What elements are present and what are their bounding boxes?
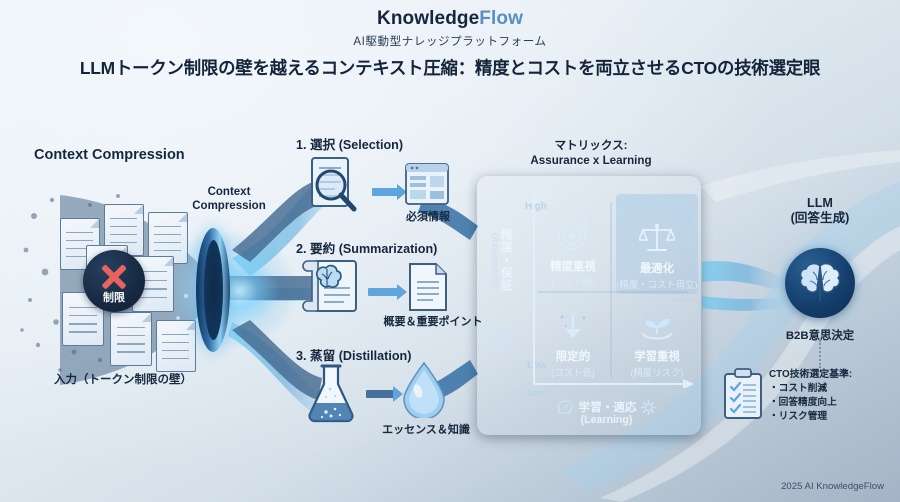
matrix-quadrant-sub: (コスト低) (551, 365, 595, 379)
step-3-title: 3. 蒸留 (Distillation) (296, 345, 411, 364)
matrix-quadrant-sub: (精度・コスト両立) (616, 277, 697, 291)
matrix-y-axis-label-en: (Assurance) (490, 233, 500, 286)
shield-check-icon (492, 328, 512, 350)
connector-dotted-line (819, 340, 821, 368)
scales-icon (639, 222, 675, 254)
matrix-quadrant-bottom-left[interactable]: 限定的 (コスト低) (534, 290, 612, 382)
matrix-quadrant-name: 学習重視 (634, 348, 680, 364)
matrix-quadrant-top-left[interactable]: 精度重視 (コスト高) (534, 196, 612, 292)
document-icon (110, 312, 152, 366)
step-2-arrow (368, 288, 398, 296)
step-2-output-label: 概要＆重要ポイント (378, 313, 488, 329)
matrix-quadrant-top-right[interactable]: 最適化 (精度・コスト両立) (616, 194, 698, 294)
brain-icon (797, 261, 843, 305)
infographic-canvas: KnowledgeFlow AI駆動型ナレッジプラットフォーム LLMトークン制… (0, 0, 900, 502)
document-icon (408, 262, 448, 312)
lens-label: Context Compression (186, 186, 272, 213)
criteria-block: CTO技術選定基準: ・コスト削減 ・回答精度向上 ・リスク管理 (769, 368, 852, 423)
matrix-x-axis-label-ja: 学習・適応 (579, 401, 637, 414)
criteria-item: ・コスト削減 (769, 382, 852, 396)
step-3-arrow (366, 390, 394, 398)
down-arrow-icon (557, 312, 589, 342)
matrix-panel: (Assurance) 精度・保証 High Low (477, 176, 701, 435)
step-3-output-label: エッセンス＆知識 (376, 421, 476, 437)
matrix-quadrant-sub: (コスト高) (551, 275, 595, 289)
brand-accent: Flow (479, 8, 523, 29)
flask-icon (304, 363, 358, 423)
compression-lens-core (204, 240, 223, 340)
matrix-x-axis-label: 学習・適応 (Learning) (524, 400, 689, 427)
brain-head-icon (557, 400, 574, 415)
step-1-output-label: 必須情報 (386, 208, 470, 224)
droplet-icon (400, 360, 448, 418)
magnifier-document-icon (302, 154, 364, 216)
llm-title: LLM (回答生成) (760, 196, 880, 226)
section-title-context-compression: Context Compression (34, 147, 185, 163)
step-1-title: 1. 選択 (Selection) (296, 134, 403, 153)
criteria-heading: CTO技術選定基準: (769, 368, 852, 382)
matrix-quadrant-bottom-right[interactable]: 学習重視 (精度リスク) (616, 290, 698, 382)
limit-badge: 制限 (83, 250, 145, 312)
clipboard-check-icon (722, 368, 764, 420)
matrix-x-axis-label-en: (Learning) (524, 415, 689, 427)
step-2-title: 2. 要約 (Summarization) (296, 238, 437, 257)
matrix-plot-area: 精度重視 (コスト高) 最適化 (精度・コスト両立) (524, 192, 689, 383)
footer-text: 2025 AI KnowledgeFlow (781, 481, 884, 492)
dashboard-icon (405, 163, 449, 205)
matrix-y-axis-label: (Assurance) 精度・保証 (483, 228, 519, 292)
plant-hand-icon (639, 312, 675, 342)
step-1-arrow (372, 188, 398, 196)
gear-icon (641, 400, 656, 415)
matrix-quadrant-name: 限定的 (556, 348, 590, 364)
matrix-x-high-label: High (665, 388, 687, 399)
matrix-y-axis-label-ja: 精度・保証 (500, 228, 513, 292)
page-headline: LLMトークン制限の壁を越えるコンテキスト圧縮：精度とコストを両立させるCTOの… (0, 55, 900, 80)
input-caption: 入力（トークン制限の壁） (18, 371, 228, 387)
llm-node[interactable] (785, 248, 855, 318)
matrix-quadrant-name: 最適化 (640, 260, 674, 276)
matrix-quadrant-sub: (精度リスク) (630, 365, 683, 379)
page-title: KnowledgeFlow (0, 8, 900, 30)
matrix-heading: マトリックス: Assurance x Learning (498, 139, 684, 169)
limit-badge-label: 制限 (83, 289, 145, 305)
criteria-item: ・リスク管理 (769, 410, 852, 424)
matrix-quadrant-name: 精度重視 (550, 258, 596, 274)
target-arrow-icon (556, 218, 590, 252)
criteria-item: ・回答精度向上 (769, 396, 852, 410)
page-subtitle: AI駆動型ナレッジプラットフォーム (0, 33, 900, 49)
matrix-x-low-label: Low (527, 388, 547, 399)
brand-primary: Knowledge (377, 8, 479, 29)
brain-scroll-icon (300, 258, 366, 316)
